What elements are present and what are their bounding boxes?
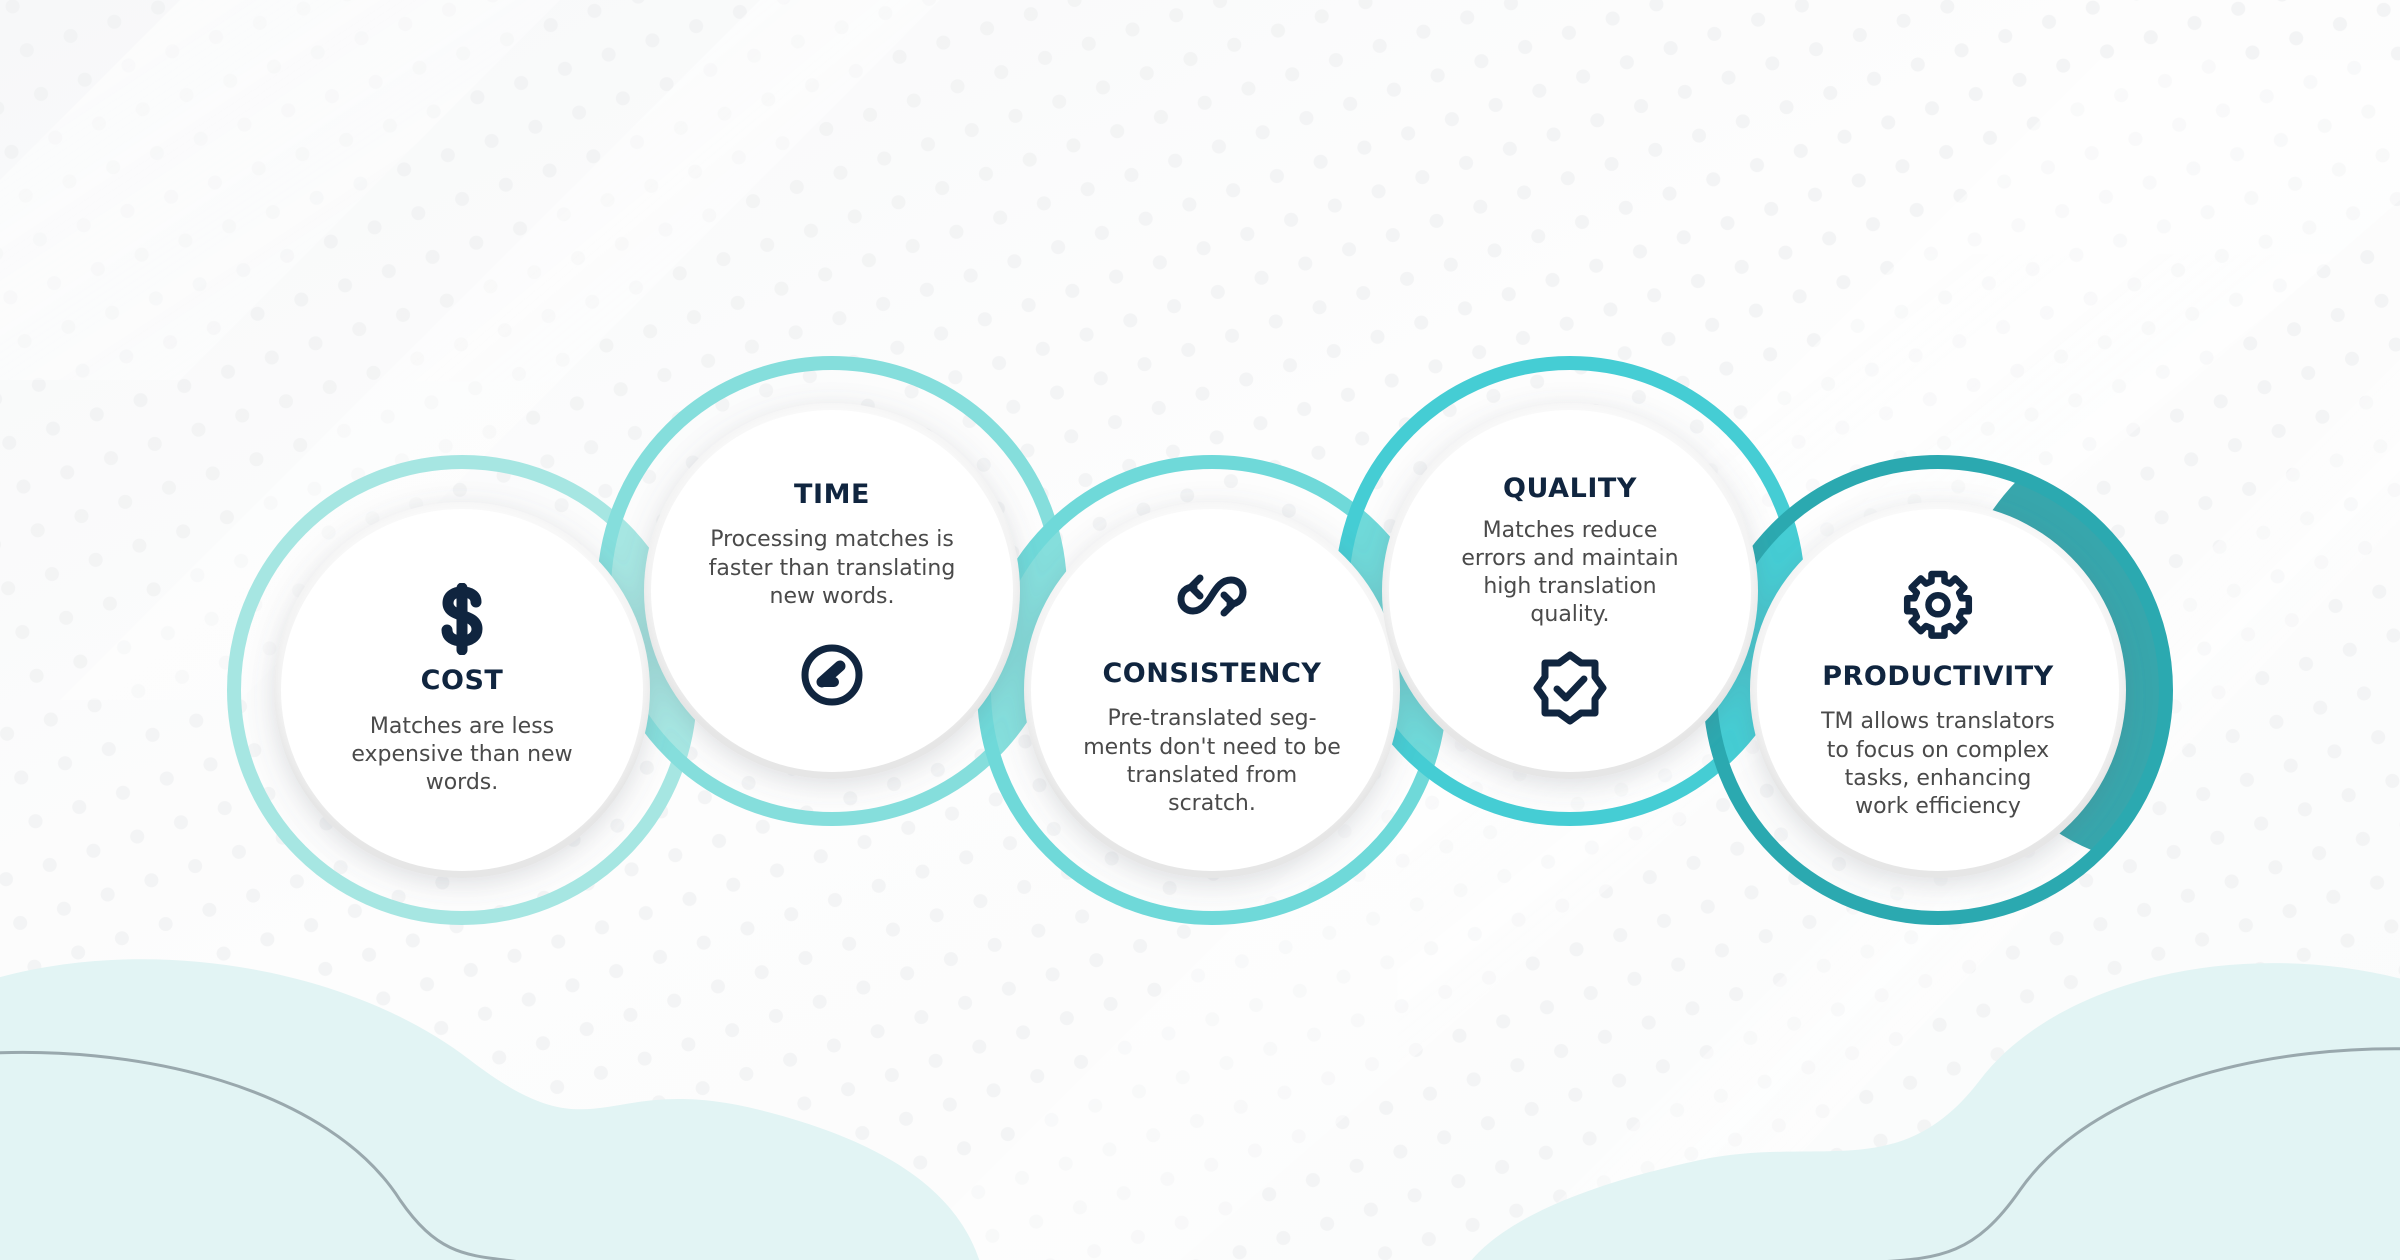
circles-layer: [0, 0, 2400, 1260]
infographic-canvas: COST Matches are less expensive than new…: [0, 0, 2400, 1260]
